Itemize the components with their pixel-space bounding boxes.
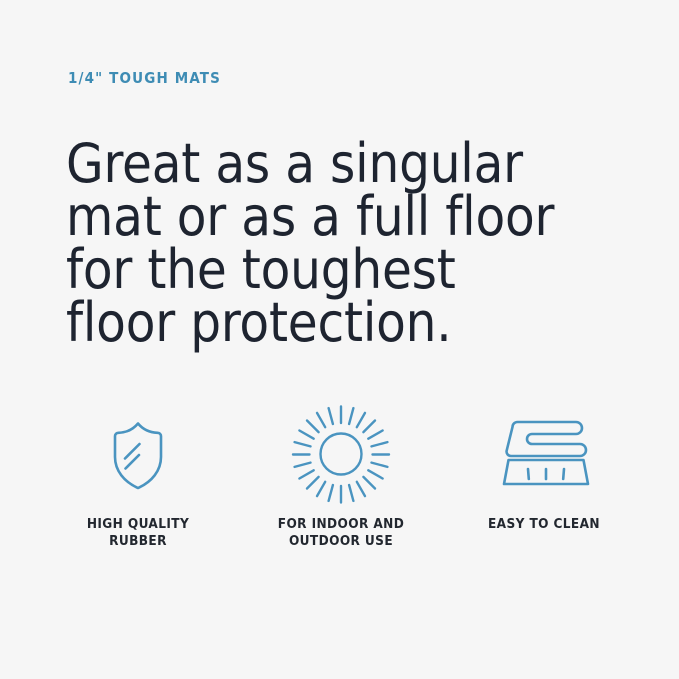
feature-label-line-2: RUBBER xyxy=(87,533,189,550)
feature-label: FOR INDOOR AND OUTDOOR USE xyxy=(278,516,404,550)
headline-line-2: mat or as a full floor xyxy=(66,190,626,243)
shield-icon xyxy=(102,404,174,504)
feature-label-line-1: FOR INDOOR AND xyxy=(278,516,404,533)
feature-label: EASY TO CLEAN xyxy=(488,516,600,533)
sun-icon xyxy=(291,404,391,504)
feature-label: HIGH QUALITY RUBBER xyxy=(87,516,189,550)
feature-item-high-quality-rubber: HIGH QUALITY RUBBER xyxy=(38,404,238,550)
brush-icon xyxy=(498,404,590,504)
headline-line-3: for the toughest xyxy=(66,243,626,296)
feature-label-line-2: OUTDOOR USE xyxy=(278,533,404,550)
feature-label-line-1: HIGH QUALITY xyxy=(87,516,189,533)
feature-item-indoor-outdoor: FOR INDOOR AND OUTDOOR USE xyxy=(241,404,441,550)
eyebrow-text: 1/4" TOUGH MATS xyxy=(68,68,221,88)
feature-item-easy-to-clean: EASY TO CLEAN xyxy=(444,404,644,533)
page-title: Great as a singular mat or as a full flo… xyxy=(66,137,626,349)
headline-line-4: floor protection. xyxy=(66,296,626,349)
feature-list: HIGH QUALITY RUBBER xyxy=(38,404,644,550)
headline-line-1: Great as a singular xyxy=(66,137,626,190)
feature-card: 1/4" TOUGH MATS Great as a singular mat … xyxy=(0,0,679,679)
feature-label-line-1: EASY TO CLEAN xyxy=(488,516,600,533)
